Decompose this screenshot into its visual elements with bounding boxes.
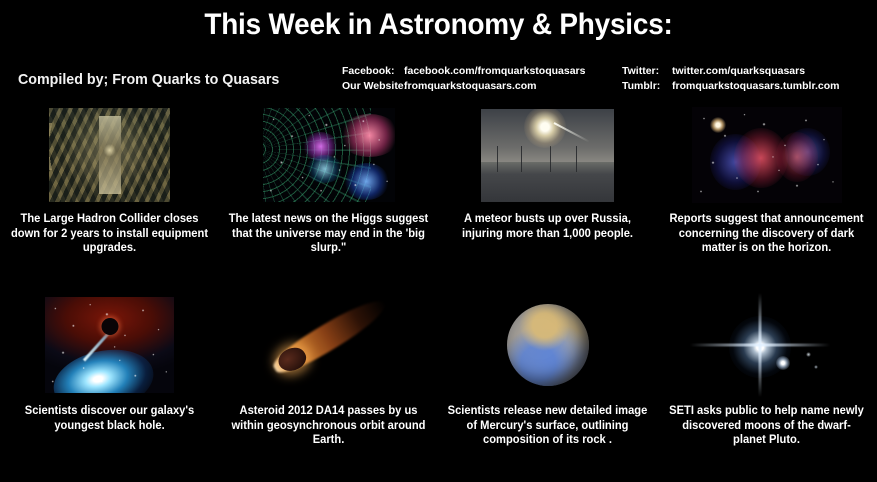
story-thumbnail-wrap (438, 295, 657, 395)
page-title: This Week in Astronomy & Physics: (31, 8, 847, 42)
mercury-planet-sphere (507, 304, 589, 386)
cyan-nebula-blob (306, 155, 343, 183)
story-item[interactable]: The latest news on the Higgs suggest tha… (219, 105, 438, 256)
header: This Week in Astronomy & Physics: Compil… (0, 0, 877, 105)
website-link-row[interactable]: Our Website: fromquarkstoquasars.com (342, 79, 585, 94)
story-item[interactable]: Asteroid 2012 DA14 passes by us within g… (219, 295, 438, 448)
foreground-star (710, 117, 726, 133)
website-label: Our Website: (342, 79, 404, 94)
compiled-by-credit: Compiled by; From Quarks to Quasars (18, 71, 279, 88)
twitter-link-row[interactable]: Twitter: twitter.com/quarksquasars (622, 64, 839, 79)
utility-poles (481, 146, 614, 172)
social-links-right: Twitter: twitter.com/quarksquasars Tumbl… (622, 64, 839, 94)
large-hadron-collider-photo (49, 108, 170, 202)
facebook-link-row[interactable]: Facebook: facebook.com/fromquarkstoquasa… (342, 64, 585, 79)
asteroid-2012-da14-illustration (250, 298, 408, 393)
story-thumbnail-wrap (0, 295, 219, 395)
pink-nebula-blob (339, 114, 394, 157)
story-item[interactable]: SETI asks public to help name newly disc… (657, 295, 876, 448)
story-thumbnail-wrap (219, 295, 438, 395)
diffraction-spike-vertical (758, 293, 761, 397)
charon-moon (776, 356, 790, 370)
story-item[interactable]: Scientists release new detailed image of… (438, 295, 657, 448)
tumblr-link-row[interactable]: Tumblr: fromquarkstoquasars.tumblr.com (622, 79, 839, 94)
story-caption: The latest news on the Higgs suggest tha… (222, 212, 434, 256)
facebook-label: Facebook: (342, 64, 404, 79)
story-item[interactable]: Scientists discover our galaxy's younges… (0, 295, 219, 433)
meteor-flash (524, 109, 566, 149)
story-thumbnail-wrap (657, 105, 876, 205)
story-thumbnail-wrap (219, 105, 438, 205)
story-caption: SETI asks public to help name newly disc… (660, 404, 872, 448)
pink-hot-gas-cloud (776, 132, 818, 182)
story-caption: The Large Hadron Collider closes down fo… (3, 212, 215, 256)
tumblr-label: Tumblr: (622, 79, 672, 94)
twitter-url[interactable]: twitter.com/quarksquasars (672, 64, 805, 79)
story-caption: Reports suggest that announcement concer… (660, 212, 872, 256)
higgs-universe-web-illustration (263, 108, 395, 202)
story-item[interactable]: Reports suggest that announcement concer… (657, 105, 876, 256)
story-item[interactable]: A meteor busts up over Russia, injuring … (438, 105, 657, 241)
story-item[interactable]: The Large Hadron Collider closes down fo… (0, 105, 219, 256)
facebook-url[interactable]: facebook.com/fromquarkstoquasars (404, 64, 585, 79)
story-caption: Asteroid 2012 DA14 passes by us within g… (222, 404, 434, 448)
youngest-black-hole-illustration (45, 297, 174, 393)
tumblr-url[interactable]: fromquarkstoquasars.tumblr.com (672, 79, 839, 94)
story-thumbnail-wrap (657, 295, 876, 395)
small-moon (806, 352, 811, 357)
story-caption: Scientists discover our galaxy's younges… (3, 404, 215, 433)
website-url[interactable]: fromquarkstoquasars.com (404, 79, 536, 94)
social-links-left: Facebook: facebook.com/fromquarkstoquasa… (342, 64, 585, 94)
small-moon (814, 365, 818, 369)
mercury-surface-photo (470, 290, 626, 400)
meteor-over-russia-photo (481, 109, 614, 202)
dark-matter-bullet-cluster-photo (692, 107, 842, 203)
pluto-moons-photo (685, 290, 848, 400)
blue-nebula-blob (344, 163, 389, 201)
twitter-label: Twitter: (622, 64, 672, 79)
story-caption: Scientists release new detailed image of… (441, 404, 653, 448)
story-grid: The Large Hadron Collider closes down fo… (0, 105, 877, 482)
galaxy-disk (48, 341, 159, 393)
story-thumbnail-wrap (0, 105, 219, 205)
story-thumbnail-wrap (438, 105, 657, 205)
story-caption: A meteor busts up over Russia, injuring … (441, 212, 653, 241)
black-hole (101, 318, 118, 335)
